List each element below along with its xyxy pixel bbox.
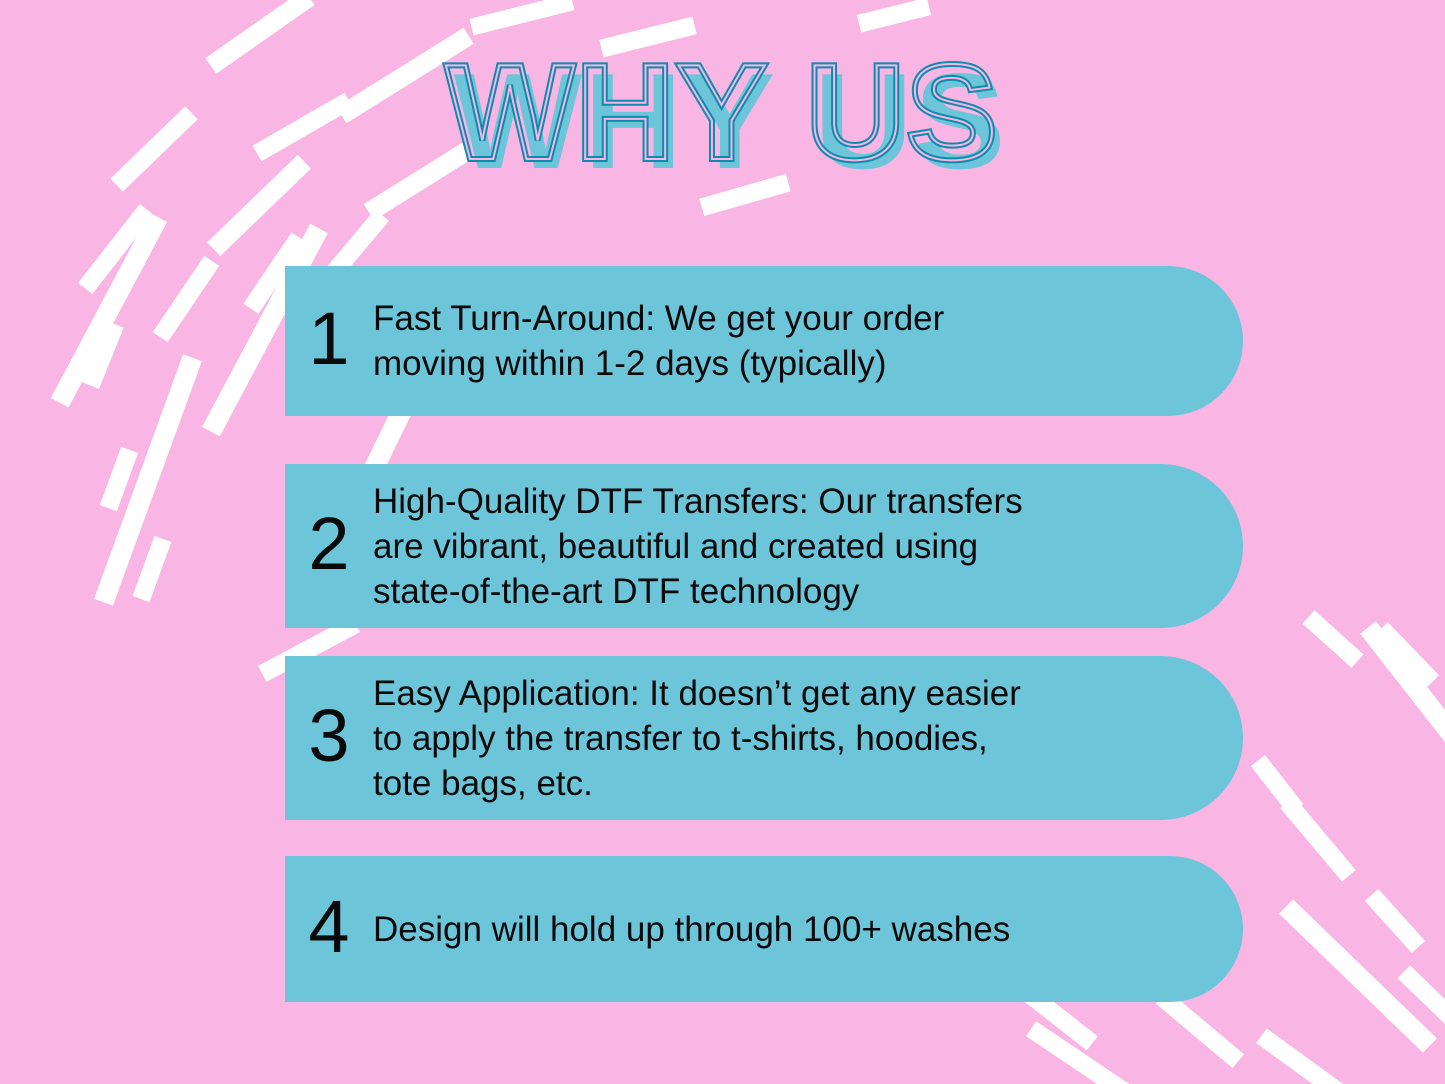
dash-mark	[469, 0, 574, 35]
dash-mark	[1026, 1021, 1144, 1084]
dash-mark	[82, 321, 123, 389]
dash-mark	[1251, 755, 1303, 815]
benefit-line: tote bags, etc.	[373, 761, 1197, 806]
page-title: WHY US WHY US WHY US	[0, 42, 1445, 192]
dash-mark	[1256, 1028, 1364, 1084]
benefit-line: Fast Turn-Around: We get your order	[373, 296, 1197, 341]
benefit-card-1: 1 Fast Turn-Around: We get your order mo…	[285, 266, 1243, 416]
benefit-card-2: 2 High-Quality DTF Transfers: Our transf…	[285, 464, 1243, 628]
benefit-line: moving within 1-2 days (typically)	[373, 341, 1197, 386]
benefit-text-4: Design will hold up through 100+ washes	[373, 907, 1243, 952]
benefit-text-3: Easy Application: It doesn’t get any eas…	[373, 671, 1243, 806]
benefit-line: state-of-the-art DTF technology	[373, 569, 1197, 614]
benefit-number-2: 2	[285, 507, 373, 585]
dash-mark	[1280, 796, 1355, 881]
dash-mark	[1360, 621, 1445, 830]
dash-mark	[51, 213, 167, 408]
title-inline-layer: WHY US	[0, 42, 1445, 182]
dash-mark	[1398, 965, 1445, 1036]
benefit-text-2: High-Quality DTF Transfers: Our transfer…	[373, 479, 1243, 614]
benefit-number-1: 1	[285, 302, 373, 380]
benefit-line: Easy Application: It doesn’t get any eas…	[373, 671, 1197, 716]
dash-mark	[857, 0, 931, 32]
benefit-line: Design will hold up through 100+ washes	[373, 907, 1197, 952]
dash-mark	[1375, 622, 1439, 688]
dash-mark	[1279, 899, 1437, 1052]
benefit-text-1: Fast Turn-Around: We get your order movi…	[373, 296, 1243, 386]
benefit-number-4: 4	[285, 890, 373, 968]
dash-mark	[1365, 889, 1425, 953]
dash-mark	[153, 256, 219, 342]
benefit-line: High-Quality DTF Transfers: Our transfer…	[373, 479, 1197, 524]
dash-mark	[100, 447, 138, 511]
dash-mark	[1302, 610, 1363, 668]
dash-mark	[133, 536, 172, 602]
benefit-number-3: 3	[285, 699, 373, 777]
benefit-line: to apply the transfer to t-shirts, hoodi…	[373, 716, 1197, 761]
dash-mark	[94, 354, 202, 605]
dash-mark	[78, 204, 154, 294]
benefit-card-3: 3 Easy Application: It doesn’t get any e…	[285, 656, 1243, 820]
benefit-line: are vibrant, beautiful and created using	[373, 524, 1197, 569]
benefit-card-4: 4 Design will hold up through 100+ washe…	[285, 856, 1243, 1002]
poster-canvas: WHY US WHY US WHY US 1 Fast Turn-Around:…	[0, 0, 1445, 1084]
